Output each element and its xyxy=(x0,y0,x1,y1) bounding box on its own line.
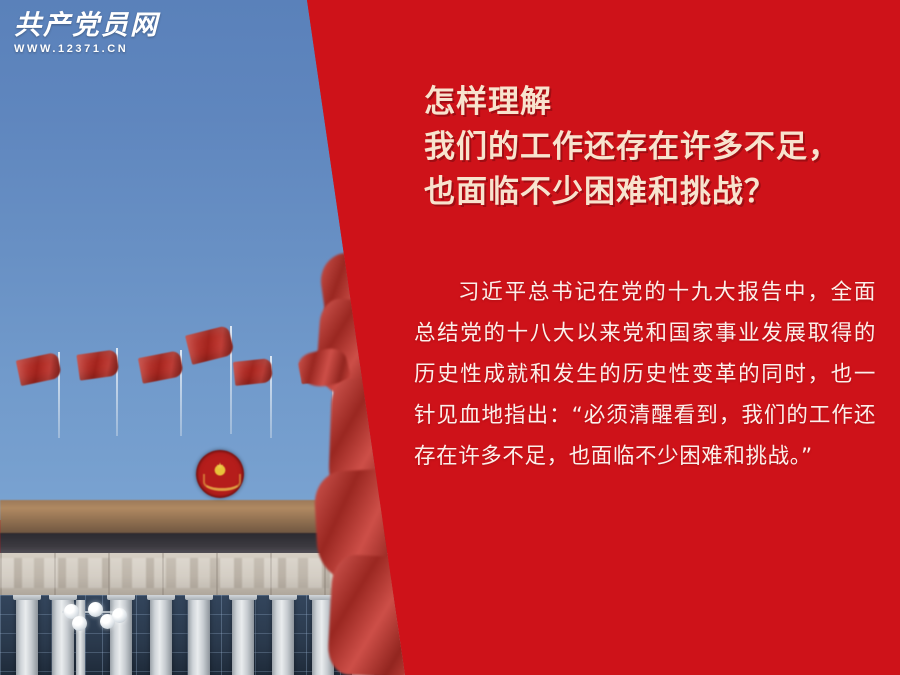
content-layer: 怎样理解 我们的工作还存在许多不足， 也面临不少困难和挑战？ 习近平总书记在党的… xyxy=(0,0,900,675)
site-logo[interactable]: 共产党员网 WWW.12371.CN xyxy=(14,12,159,55)
body-paragraph: 习近平总书记在党的十九大报告中，全面总结党的十八大以来党和国家事业发展取得的历史… xyxy=(414,272,876,477)
logo-wordmark: 共产党员网 xyxy=(14,12,159,39)
logo-url: WWW.12371.CN xyxy=(14,44,159,55)
poster-canvas: 怎样理解 我们的工作还存在许多不足， 也面临不少困难和挑战？ 习近平总书记在党的… xyxy=(0,0,900,675)
headline: 怎样理解 我们的工作还存在许多不足， 也面临不少困难和挑战？ xyxy=(424,80,874,215)
